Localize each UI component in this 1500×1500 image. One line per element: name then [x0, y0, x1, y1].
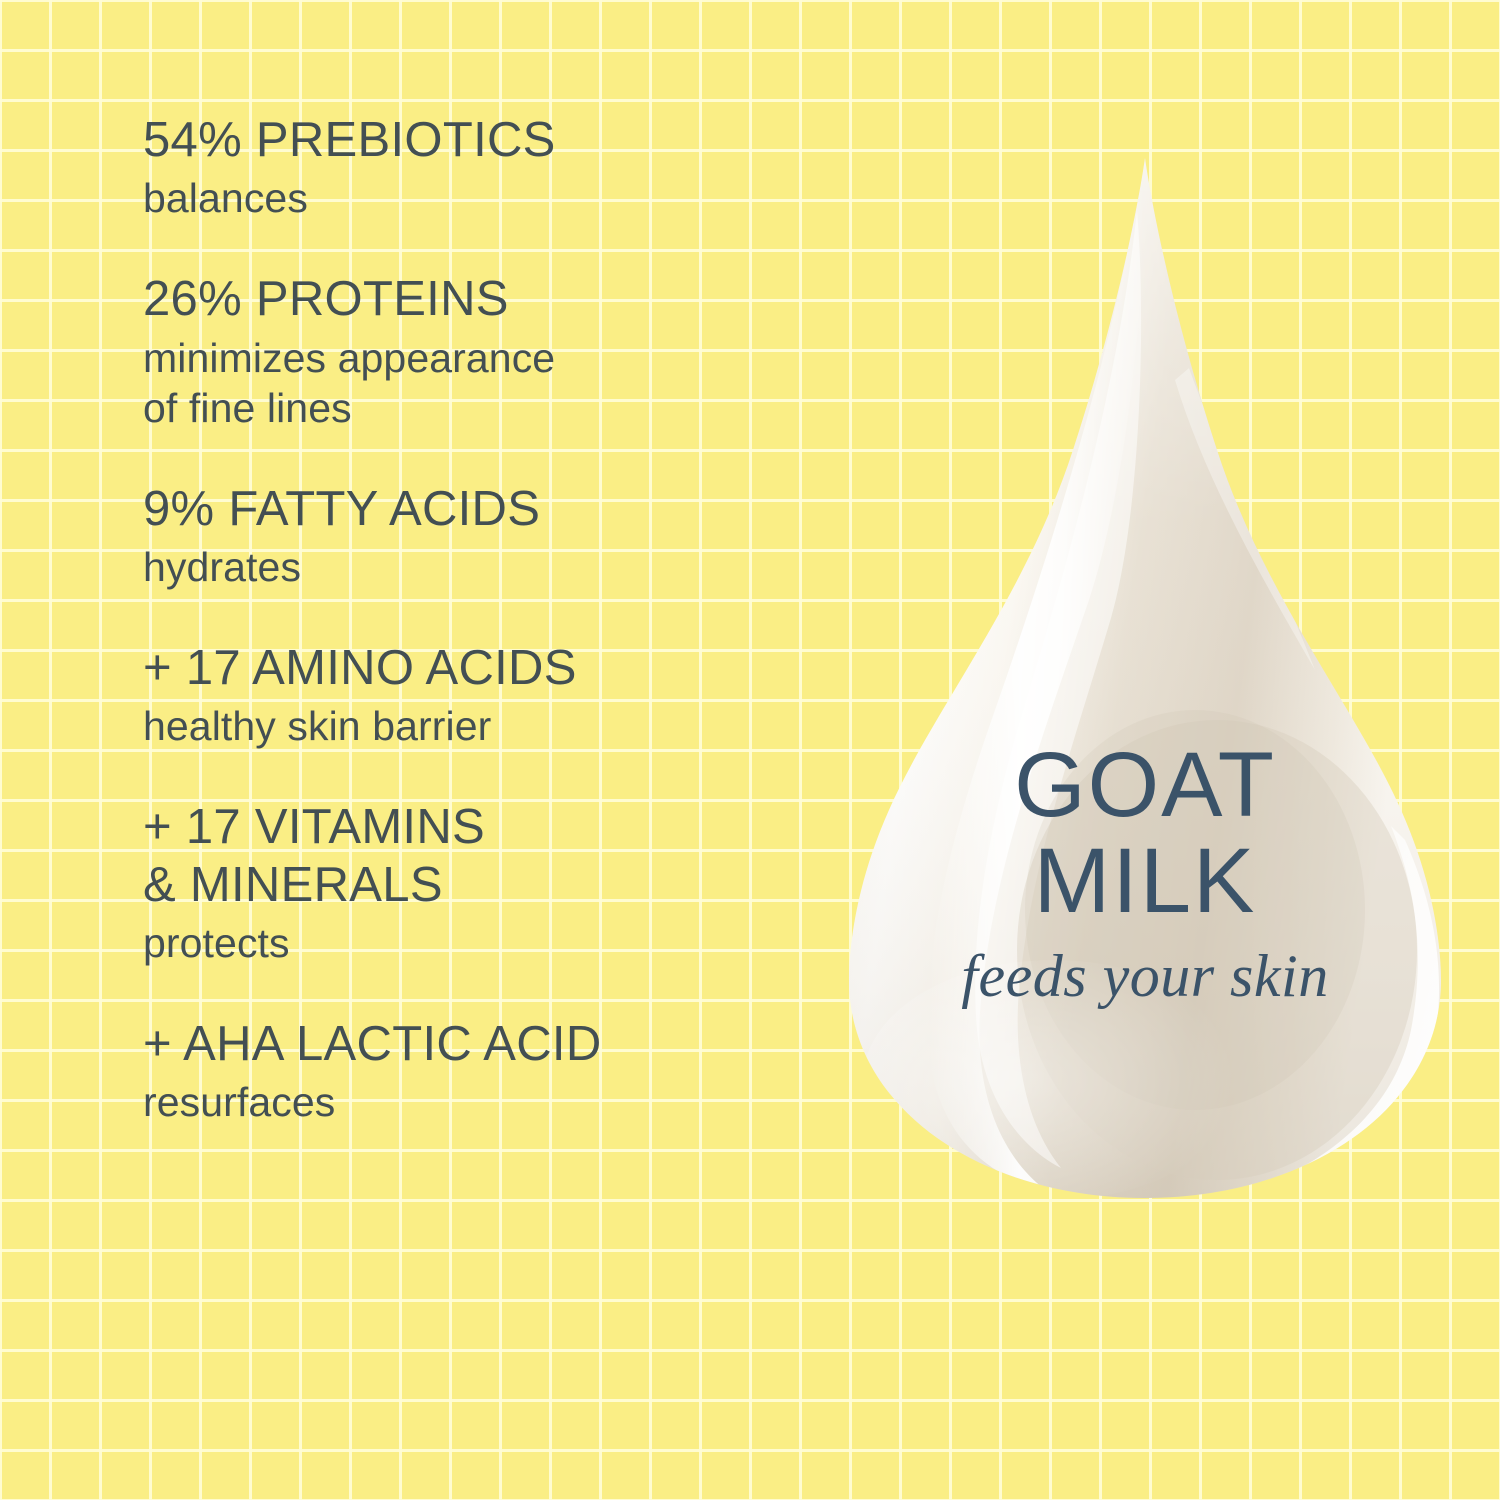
- ingredient-benefit: resurfaces: [143, 1077, 863, 1127]
- ingredient-heading: 26% PROTEINS: [143, 271, 863, 328]
- milk-droplet-icon: [845, 150, 1445, 1210]
- ingredient-list: 54% PREBIOTICS balances 26% PROTEINS min…: [143, 112, 863, 1127]
- ingredient-benefit: protects: [143, 918, 863, 968]
- ingredient-item-amino-acids: + 17 AMINO ACIDS healthy skin barrier: [143, 640, 863, 751]
- ingredient-item-proteins: 26% PROTEINS minimizes appearance of fin…: [143, 271, 863, 432]
- ingredient-benefit: healthy skin barrier: [143, 701, 863, 751]
- ingredient-benefit: hydrates: [143, 542, 863, 592]
- ingredient-item-vitamins-minerals: + 17 VITAMINS & MINERALS protects: [143, 799, 863, 968]
- ingredient-heading: + 17 VITAMINS & MINERALS: [143, 799, 863, 914]
- ingredient-heading: + AHA LACTIC ACID: [143, 1016, 863, 1073]
- ingredient-item-prebiotics: 54% PREBIOTICS balances: [143, 112, 863, 223]
- ingredient-item-aha-lactic-acid: + AHA LACTIC ACID resurfaces: [143, 1016, 863, 1127]
- ingredient-heading: 54% PREBIOTICS: [143, 112, 863, 169]
- ingredient-item-fatty-acids: 9% FATTY ACIDS hydrates: [143, 481, 863, 592]
- milk-droplet-graphic: GOAT MILK feeds your skin: [845, 150, 1445, 1210]
- ingredient-heading: + 17 AMINO ACIDS: [143, 640, 863, 697]
- ingredient-benefit: balances: [143, 173, 863, 223]
- product-ingredient-infographic: 54% PREBIOTICS balances 26% PROTEINS min…: [0, 0, 1500, 1500]
- ingredient-heading: 9% FATTY ACIDS: [143, 481, 863, 538]
- ingredient-benefit: minimizes appearance of fine lines: [143, 333, 863, 433]
